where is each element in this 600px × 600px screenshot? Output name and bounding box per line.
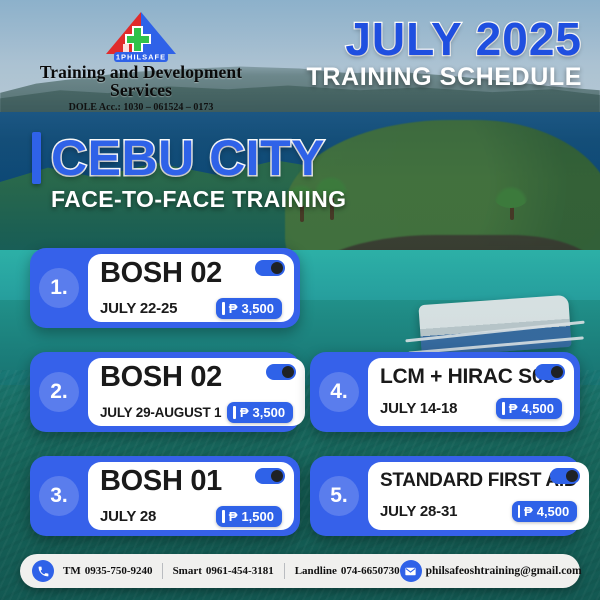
schedule-card[interactable]: 4. LCM + HIRAC S03 JULY 14-18 ₱ 4,500 xyxy=(310,352,580,432)
contact-email: philsafeoshtraining@gmail.com xyxy=(426,565,582,577)
contact-landline: Landline074-6650730 xyxy=(295,565,400,577)
divider xyxy=(284,563,285,579)
course-date: JULY 28 xyxy=(100,508,156,525)
toggle-switch[interactable] xyxy=(266,364,296,380)
card-body: BOSH 01 JULY 28 ₱ 1,500 xyxy=(88,462,294,530)
price-bar-icon xyxy=(502,402,505,415)
toggle-knob xyxy=(282,366,294,378)
card-body: LCM + HIRAC S03 JULY 14-18 ₱ 4,500 xyxy=(368,358,574,426)
price-amount: 3,500 xyxy=(253,405,286,420)
contact-footer: TM0935-750-9240 Smart0961-454-3181 Landl… xyxy=(20,554,580,588)
toggle-switch[interactable] xyxy=(550,468,580,484)
card-body: BOSH 02 JULY 29-AUGUST 1 ₱ 3,500 xyxy=(88,358,305,426)
schedule-card[interactable]: 2. BOSH 02 JULY 29-AUGUST 1 ₱ 3,500 xyxy=(30,352,300,432)
envelope-icon xyxy=(400,560,422,582)
price-bar-icon xyxy=(222,302,225,315)
number-badge: 1. xyxy=(39,268,79,308)
price-bar-icon xyxy=(222,510,225,523)
number-badge: 5. xyxy=(319,476,359,516)
toggle-knob xyxy=(271,262,283,274)
schedule-card[interactable]: 5. STANDARD FIRST AID JULY 28-31 ₱ 4,500 xyxy=(310,456,580,536)
schedule-card[interactable]: 1. BOSH 02 JULY 22-25 ₱ 3,500 xyxy=(30,248,300,328)
price-badge: ₱ 4,500 xyxy=(512,501,578,522)
card-number: 3. xyxy=(30,476,88,516)
price-badge: ₱ 3,500 xyxy=(227,402,293,423)
toggle-knob xyxy=(271,470,283,482)
number-badge: 4. xyxy=(319,372,359,412)
contact-value: 0935-750-9240 xyxy=(85,565,153,577)
number-badge: 3. xyxy=(39,476,79,516)
toggle-switch[interactable] xyxy=(255,260,285,276)
contact-smart: Smart0961-454-3181 xyxy=(173,565,274,577)
contact-label: Smart xyxy=(173,565,202,577)
schedule-card[interactable]: 3. BOSH 01 JULY 28 ₱ 1,500 xyxy=(30,456,300,536)
card-number: 2. xyxy=(30,372,88,412)
price-amount: 3,500 xyxy=(241,301,274,316)
course-title: BOSH 02 xyxy=(100,258,282,288)
card-number: 1. xyxy=(30,268,88,308)
price-amount: 4,500 xyxy=(521,401,554,416)
contact-label: TM xyxy=(63,565,81,577)
price-amount: 4,500 xyxy=(537,504,570,519)
currency-symbol: ₱ xyxy=(229,509,238,524)
price-bar-icon xyxy=(233,406,236,419)
course-date: JULY 29-AUGUST 1 xyxy=(100,405,221,420)
contact-value: 074-6650730 xyxy=(341,565,400,577)
contact-tm: TM0935-750-9240 xyxy=(63,565,153,577)
phone-icon xyxy=(32,560,54,582)
course-date: JULY 14-18 xyxy=(380,400,457,417)
price-amount: 1,500 xyxy=(241,509,274,524)
toggle-switch[interactable] xyxy=(535,364,565,380)
toggle-knob xyxy=(566,470,578,482)
card-body: STANDARD FIRST AID JULY 28-31 ₱ 4,500 xyxy=(368,462,589,530)
contact-label: Landline xyxy=(295,565,337,577)
currency-symbol: ₱ xyxy=(240,405,249,420)
currency-symbol: ₱ xyxy=(229,301,238,316)
price-badge: ₱ 1,500 xyxy=(216,506,282,527)
card-body: BOSH 02 JULY 22-25 ₱ 3,500 xyxy=(88,254,294,322)
course-title: BOSH 01 xyxy=(100,466,282,496)
course-date: JULY 22-25 xyxy=(100,300,177,317)
divider xyxy=(162,563,163,579)
course-date: JULY 28-31 xyxy=(380,503,457,520)
card-number: 4. xyxy=(310,372,368,412)
currency-symbol: ₱ xyxy=(524,504,533,519)
course-title: BOSH 02 xyxy=(100,362,293,392)
toggle-knob xyxy=(551,366,563,378)
toggle-switch[interactable] xyxy=(255,468,285,484)
card-number: 5. xyxy=(310,476,368,516)
contact-value: 0961-454-3181 xyxy=(206,565,274,577)
currency-symbol: ₱ xyxy=(509,401,518,416)
price-bar-icon xyxy=(518,505,521,518)
schedule-cards: 1. BOSH 02 JULY 22-25 ₱ 3,500 2. BOSH 02 xyxy=(0,0,600,600)
number-badge: 2. xyxy=(39,372,79,412)
price-badge: ₱ 3,500 xyxy=(216,298,282,319)
price-badge: ₱ 4,500 xyxy=(496,398,562,419)
course-title: STANDARD FIRST AID xyxy=(380,471,577,491)
